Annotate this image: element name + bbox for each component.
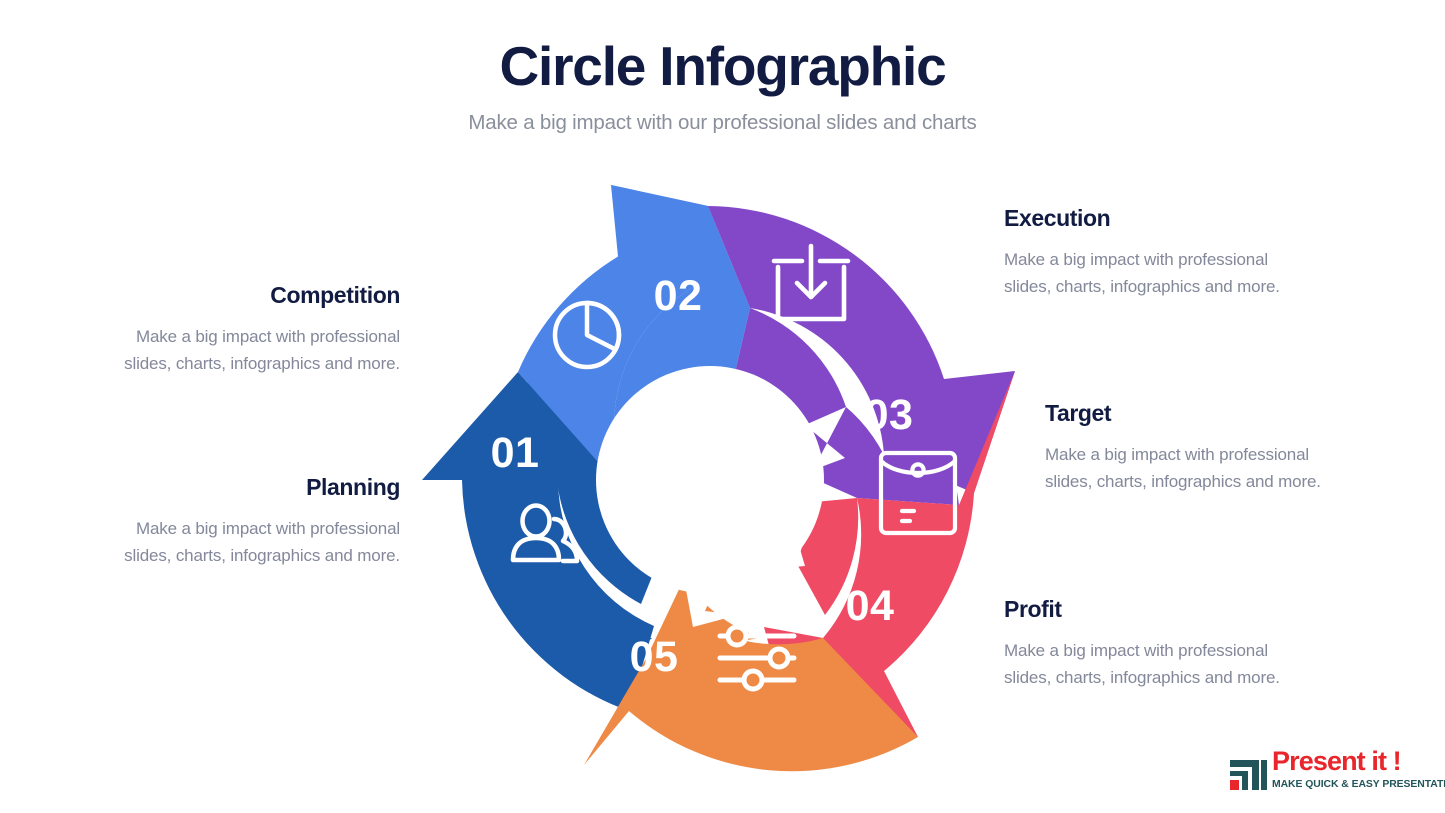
block-heading-execution: Execution [1004, 205, 1282, 232]
block-body-competition: Make a big impact with professional slid… [122, 324, 400, 378]
logo-mark-icon [1228, 750, 1268, 792]
circle-infographic-wheel: 01 02 03 [405, 175, 1015, 775]
block-body-profit: Make a big impact with professional slid… [1004, 638, 1282, 692]
block-body-execution: Make a big impact with professional slid… [1004, 247, 1282, 301]
block-body-planning: Make a big impact with professional slid… [122, 516, 400, 570]
header: Circle Infographic Make a big impact wit… [0, 38, 1445, 135]
logo-text: Present it ! MAKE QUICK & EASY PRESENTAT… [1272, 748, 1445, 790]
block-heading-profit: Profit [1004, 596, 1282, 623]
block-heading-target: Target [1045, 400, 1323, 427]
logo-tagline: MAKE QUICK & EASY PRESENTATIONS [1272, 779, 1445, 790]
text-block-profit: Profit Make a big impact with profession… [1004, 596, 1282, 692]
segment-01-number: 01 [491, 429, 540, 477]
sliders-icon [720, 627, 794, 689]
block-heading-planning: Planning [122, 474, 400, 501]
block-body-target: Make a big impact with professional slid… [1045, 442, 1323, 496]
logo-wordmark: Present it ! [1272, 748, 1445, 775]
wheel-center-hub [596, 366, 824, 594]
text-block-execution: Execution Make a big impact with profess… [1004, 205, 1282, 301]
segment-05-number: 05 [630, 633, 679, 681]
segment-04-number: 04 [846, 582, 895, 630]
text-block-target: Target Make a big impact with profession… [1045, 400, 1323, 496]
page-title: Circle Infographic [0, 38, 1445, 96]
page-subtitle: Make a big impact with our professional … [0, 111, 1445, 135]
text-block-planning: Planning Make a big impact with professi… [122, 474, 400, 570]
text-block-competition: Competition Make a big impact with profe… [122, 282, 400, 378]
brand-logo[interactable]: Present it ! MAKE QUICK & EASY PRESENTAT… [1228, 748, 1428, 798]
segment-02-number: 02 [654, 272, 703, 320]
block-heading-competition: Competition [122, 282, 400, 309]
segment-03-number: 03 [865, 391, 914, 439]
